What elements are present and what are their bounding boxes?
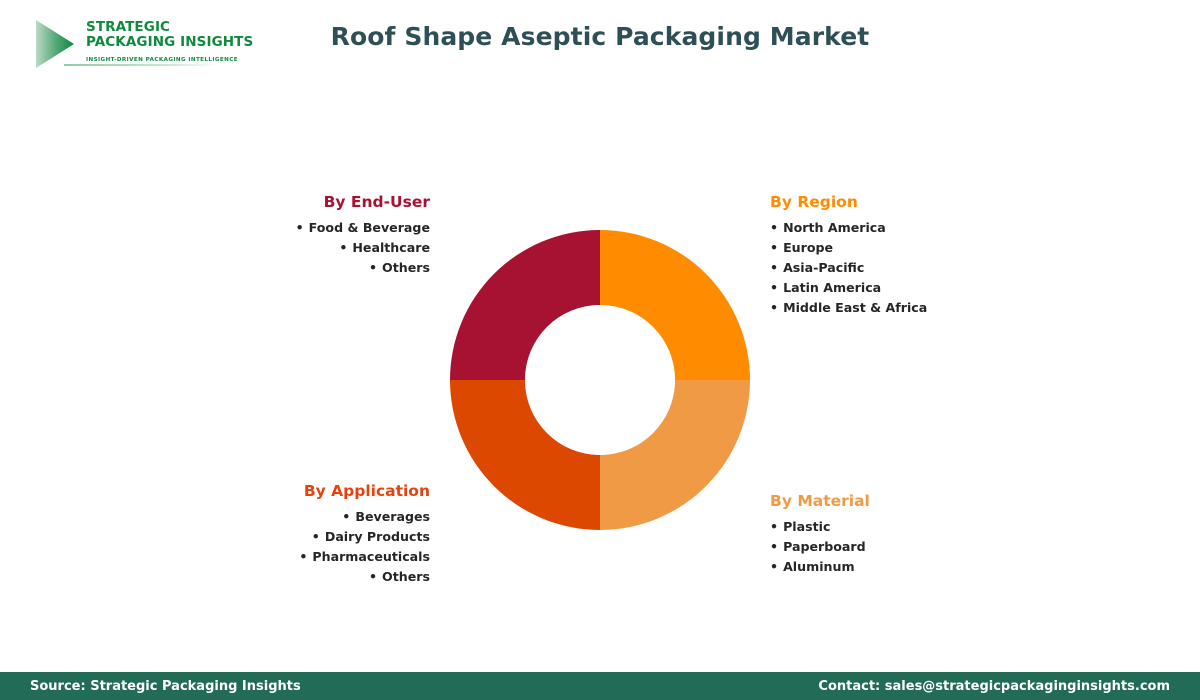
bullet-icon: • (770, 280, 778, 295)
category-application-list: •Beverages •Dairy Products •Pharmaceutic… (150, 507, 430, 587)
list-item: •Plastic (770, 517, 1070, 537)
list-item-label: Plastic (783, 519, 830, 534)
donut-chart (450, 230, 750, 530)
category-application-title: By Application (150, 482, 430, 500)
bullet-icon: • (770, 260, 778, 275)
list-item-label: Food & Beverage (309, 220, 430, 235)
donut-center-hole (525, 305, 675, 455)
bullet-icon: • (369, 260, 377, 275)
list-item: •Europe (770, 238, 1070, 258)
bullet-icon: • (770, 559, 778, 574)
category-material: By Material •Plastic •Paperboard •Alumin… (770, 492, 1070, 577)
list-item: •Beverages (150, 507, 430, 527)
category-material-list: •Plastic •Paperboard •Aluminum (770, 517, 1070, 577)
bullet-icon: • (342, 509, 350, 524)
category-region-list: •North America •Europe •Asia-Pacific •La… (770, 218, 1070, 318)
bullet-icon: • (312, 529, 320, 544)
donut-chart-svg (450, 230, 750, 530)
list-item: •Healthcare (180, 238, 430, 258)
list-item-label: Middle East & Africa (783, 300, 927, 315)
category-end-user: By End-User •Food & Beverage •Healthcare… (180, 193, 430, 278)
bullet-icon: • (299, 549, 307, 564)
category-region: By Region •North America •Europe •Asia-P… (770, 193, 1070, 318)
list-item: •Food & Beverage (180, 218, 430, 238)
category-end-user-list: •Food & Beverage •Healthcare •Others (180, 218, 430, 278)
footer-bar: Source: Strategic Packaging Insights Con… (0, 672, 1200, 700)
list-item: •Asia-Pacific (770, 258, 1070, 278)
bullet-icon: • (369, 569, 377, 584)
bullet-icon: • (296, 220, 304, 235)
category-material-title: By Material (770, 492, 1070, 510)
bullet-icon: • (770, 539, 778, 554)
list-item: •Others (150, 567, 430, 587)
list-item-label: Aluminum (783, 559, 855, 574)
bullet-icon: • (770, 220, 778, 235)
list-item-label: North America (783, 220, 886, 235)
list-item: •Others (180, 258, 430, 278)
bullet-icon: • (770, 519, 778, 534)
bullet-icon: • (770, 240, 778, 255)
footer-source: Source: Strategic Packaging Insights (30, 679, 301, 694)
list-item: •Paperboard (770, 537, 1070, 557)
list-item-label: Dairy Products (325, 529, 430, 544)
bullet-icon: • (770, 300, 778, 315)
list-item-label: Others (382, 260, 430, 275)
category-application: By Application •Beverages •Dairy Product… (150, 482, 430, 587)
bullet-icon: • (339, 240, 347, 255)
list-item-label: Latin America (783, 280, 881, 295)
list-item-label: Healthcare (352, 240, 430, 255)
list-item-label: Others (382, 569, 430, 584)
page-title: Roof Shape Aseptic Packaging Market (0, 22, 1200, 51)
brand-tagline: INSIGHT-DRIVEN PACKAGING INTELLIGENCE (86, 57, 228, 63)
list-item-label: Europe (783, 240, 833, 255)
list-item: •Aluminum (770, 557, 1070, 577)
list-item-label: Beverages (355, 509, 430, 524)
list-item-label: Pharmaceuticals (312, 549, 430, 564)
list-item: •Middle East & Africa (770, 298, 1070, 318)
list-item-label: Paperboard (783, 539, 866, 554)
category-region-title: By Region (770, 193, 1070, 211)
list-item: •Dairy Products (150, 527, 430, 547)
list-item: •North America (770, 218, 1070, 238)
list-item-label: Asia-Pacific (783, 260, 864, 275)
list-item: •Pharmaceuticals (150, 547, 430, 567)
footer-contact: Contact: sales@strategicpackaginginsight… (818, 679, 1170, 694)
list-item: •Latin America (770, 278, 1070, 298)
brand-underline-divider (64, 64, 220, 66)
category-end-user-title: By End-User (180, 193, 430, 211)
